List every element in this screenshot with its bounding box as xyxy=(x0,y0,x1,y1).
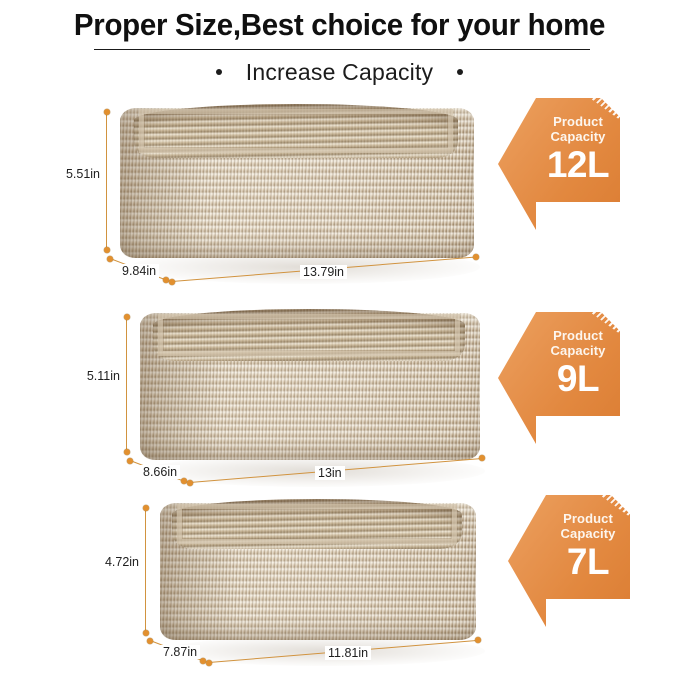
dim-label-height-small: 4.72in xyxy=(102,555,142,569)
basket-row-small: 4.72in 7.87in 11.81in Product Capacity 7… xyxy=(0,0,679,679)
dim-dot-height-top-small xyxy=(143,505,149,511)
basket-rim-small xyxy=(172,499,462,549)
dim-line-height-small xyxy=(145,508,146,633)
dim-dot-height-bottom-small xyxy=(143,630,149,636)
dim-dot-width-end-small xyxy=(475,637,481,643)
badge-capacity-label-line2-small: Capacity xyxy=(561,526,616,541)
capacity-badge-small[interactable]: Product Capacity 7L xyxy=(508,495,630,627)
badge-volume-value-small: 7L xyxy=(567,542,609,582)
dim-dot-depth-start-small xyxy=(147,638,153,644)
dim-label-depth-small: 7.87in xyxy=(160,645,200,659)
dim-dot-width-start-small xyxy=(206,660,212,666)
basket-illustration-small xyxy=(160,503,476,640)
badge-capacity-label-line1-small: Product xyxy=(563,511,613,526)
dim-label-width-small: 11.81in xyxy=(325,646,371,660)
product-size-infographic: Proper Size,Best choice for your home In… xyxy=(0,0,679,679)
badge-text-small: Product Capacity 7L xyxy=(546,495,630,599)
